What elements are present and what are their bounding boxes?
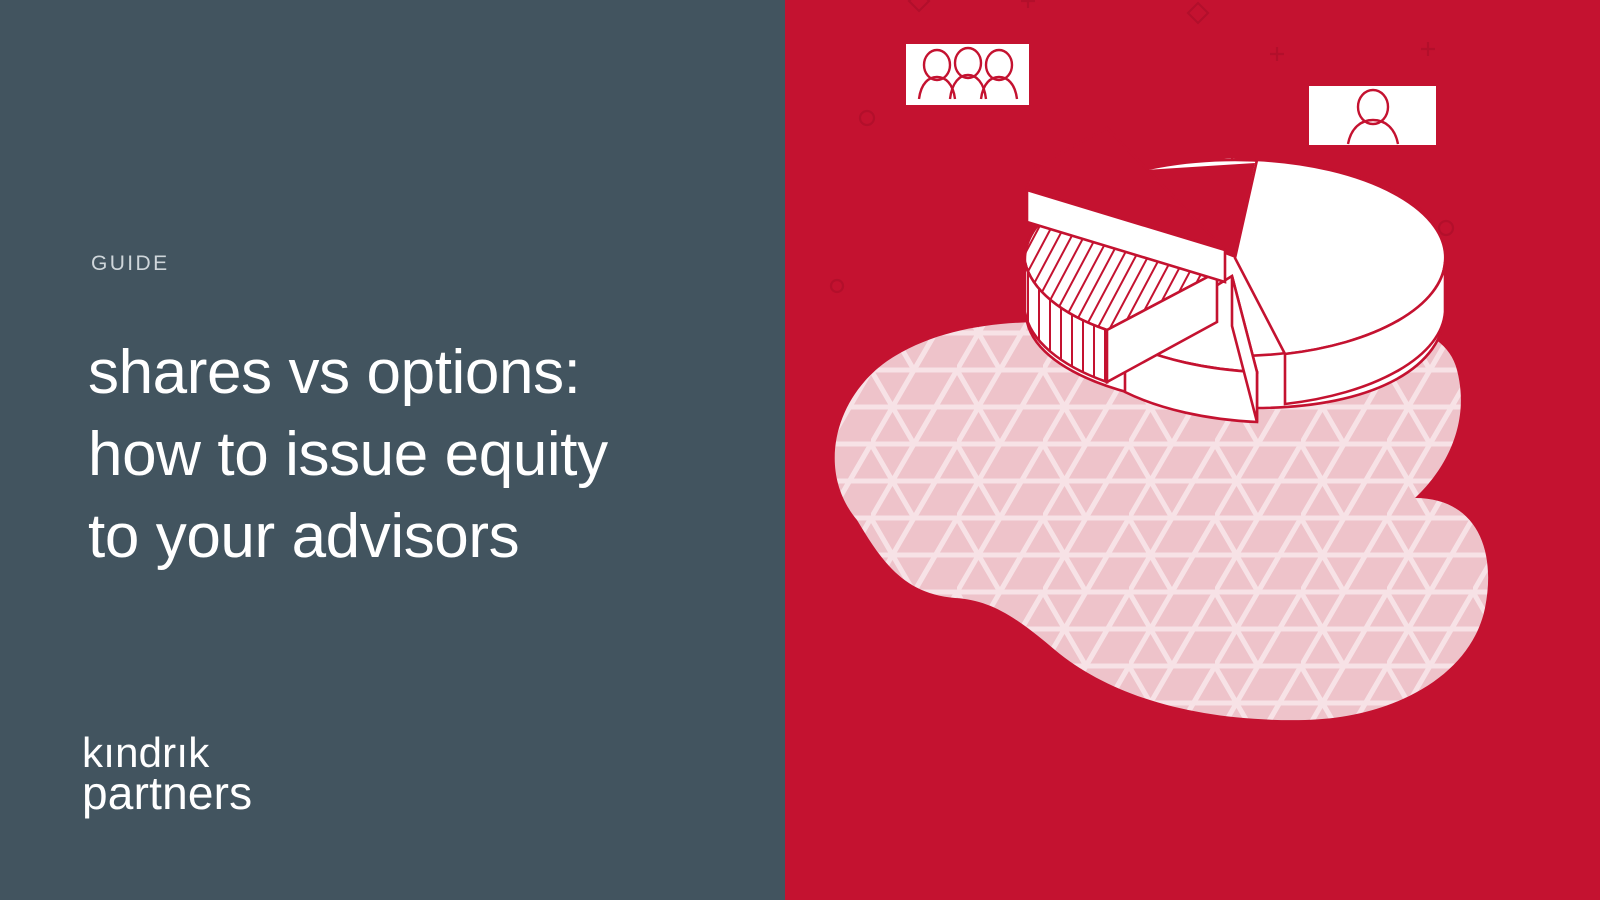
svg-text:partners: partners: [82, 767, 252, 819]
plus-mark-icon: [1021, 0, 1035, 8]
left-text-panel: GUIDE shares vs options: how to issue eq…: [0, 0, 785, 900]
right-illustration-panel: [785, 0, 1600, 900]
callout-card-group[interactable]: [905, 43, 1030, 106]
title-line-1: shares vs options:: [88, 332, 728, 414]
card-background: [1308, 85, 1437, 146]
circle-mark-icon: [1439, 221, 1453, 235]
pie-chart-3d: [1025, 128, 1445, 422]
leader-line-group: [1030, 70, 1107, 128]
plus-mark-icon: [1270, 47, 1284, 61]
eyebrow-label: GUIDE: [91, 253, 170, 274]
plus-mark-icon: [1421, 42, 1435, 56]
diamond-mark-icon: [1188, 3, 1208, 23]
circle-mark-icon: [860, 111, 874, 125]
brand-logo: kındrık partners kındrık partners: [82, 730, 282, 820]
title-line-3: to your advisors: [88, 496, 728, 578]
diamond-mark-icon: [909, 0, 929, 11]
pie-chart-illustration: [785, 0, 1600, 900]
circle-mark-icon: [831, 280, 843, 292]
kindrik-partners-logo-icon: kındrık partners: [82, 730, 282, 820]
logo-line-1: kındrık: [82, 820, 83, 821]
page-title: shares vs options: how to issue equity t…: [88, 332, 728, 577]
title-line-2: how to issue equity: [88, 414, 728, 496]
logo-line-2: partners: [82, 820, 83, 821]
callout-card-person[interactable]: [1308, 85, 1437, 146]
cover-page: GUIDE shares vs options: how to issue eq…: [0, 0, 1600, 900]
